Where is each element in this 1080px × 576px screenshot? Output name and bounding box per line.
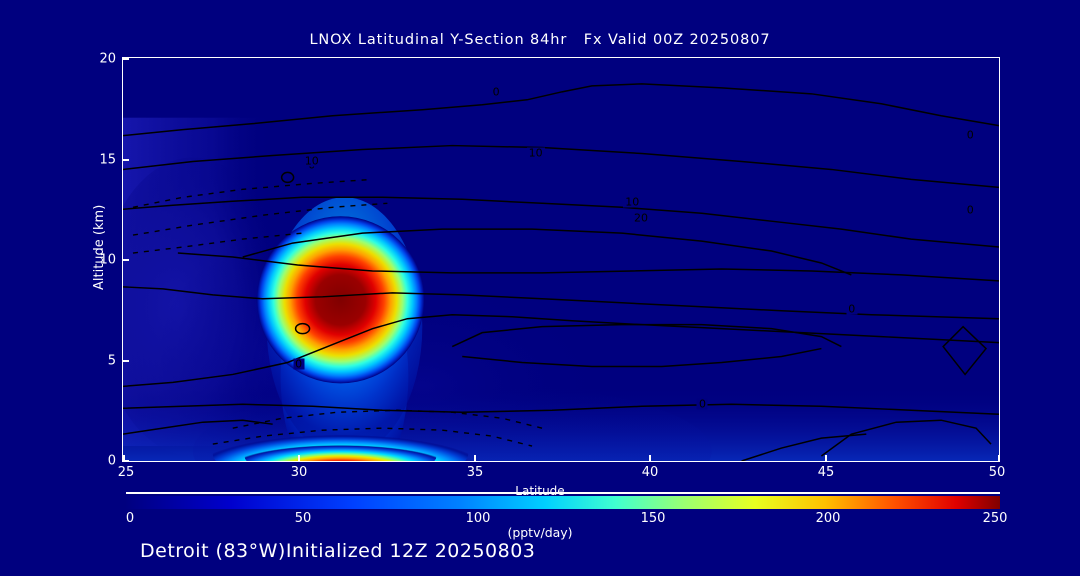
colorbar-tick-250: 250 <box>970 511 1020 526</box>
figure-title: LNOX Latitudinal Y-Section 84hr Fx Valid… <box>0 32 1080 48</box>
x-tick-mark-25 <box>123 455 125 462</box>
x-tick-label-25: 25 <box>106 465 146 480</box>
colorbar-tick-200: 200 <box>803 511 853 526</box>
y-tick-mark-20 <box>122 58 129 60</box>
field-svg <box>123 58 999 461</box>
contour-label: 10 <box>527 148 545 159</box>
colorbar-tick-100: 100 <box>453 511 503 526</box>
x-tick-mark-40 <box>649 455 651 462</box>
x-tick-label-30: 30 <box>279 465 319 480</box>
colorbar-units-label: (pptv/day) <box>0 525 1080 540</box>
contour-label: 10 <box>623 196 641 207</box>
x-tick-label-50: 50 <box>977 465 1017 480</box>
y-axis-label: Altitude (km) <box>92 205 107 290</box>
contour-label: 0 <box>697 399 708 410</box>
y-tick-mark-15 <box>122 159 129 161</box>
x-tick-label-45: 45 <box>806 465 846 480</box>
y-tick-label-10: 10 <box>82 253 116 268</box>
contour-label: 0 <box>846 304 857 315</box>
y-tick-mark-10 <box>122 259 129 261</box>
contour-label: 0 <box>293 358 304 369</box>
colorbar-top-rule <box>126 492 1000 494</box>
colorbar-tick-0: 0 <box>105 511 155 526</box>
x-tick-mark-35 <box>474 455 476 462</box>
plot-area: 001010102000000 <box>122 57 1000 462</box>
x-tick-label-35: 35 <box>455 465 495 480</box>
contour-label: 10 <box>303 156 321 167</box>
y-tick-label-5: 5 <box>82 354 116 369</box>
figure-root: LNOX Latitudinal Y-Section 84hr Fx Valid… <box>0 0 1080 576</box>
y-tick-mark-5 <box>122 360 129 362</box>
figure-caption: Detroit (83°W)Initialized 12Z 20250803 <box>140 540 535 562</box>
x-tick-mark-30 <box>298 455 300 462</box>
heatmap-canvas: 001010102000000 <box>123 58 999 461</box>
x-tick-mark-50 <box>998 455 1000 462</box>
contour-label: 0 <box>965 204 976 215</box>
contour-label: 0 <box>965 129 976 140</box>
y-tick-label-15: 15 <box>82 153 116 168</box>
contour-label: 20 <box>632 212 650 223</box>
y-tick-label-20: 20 <box>82 52 116 67</box>
colorbar-gradient <box>126 496 1000 509</box>
contour-label: 0 <box>491 87 502 98</box>
x-tick-mark-45 <box>825 455 827 462</box>
colorbar-tick-50: 50 <box>278 511 328 526</box>
x-tick-label-40: 40 <box>630 465 670 480</box>
colorbar-tick-150: 150 <box>628 511 678 526</box>
